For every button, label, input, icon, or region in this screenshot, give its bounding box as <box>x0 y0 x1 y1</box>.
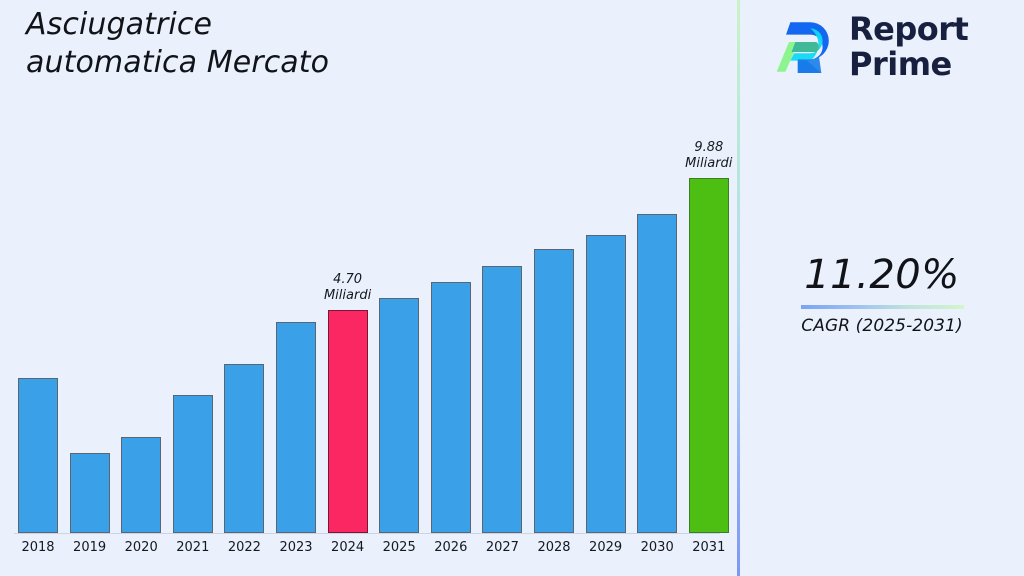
bar-2031[interactable] <box>689 178 729 533</box>
bar-2020[interactable] <box>121 437 161 533</box>
bar-2030[interactable] <box>637 214 677 533</box>
bar-group: 4.70 Miliardi <box>328 310 368 533</box>
bar-2019[interactable] <box>70 453 110 533</box>
x-axis-label-2027: 2027 <box>482 540 522 555</box>
x-axis-label-2024: 2024 <box>328 540 368 555</box>
bar-group <box>70 453 110 533</box>
x-axis-label-2031: 2031 <box>689 540 729 555</box>
bar-group <box>482 266 522 533</box>
bar-group <box>586 235 626 533</box>
bar-2023[interactable] <box>276 322 316 533</box>
bar-group <box>431 282 471 533</box>
x-axis-label-2029: 2029 <box>586 540 626 555</box>
bar-group <box>224 364 264 533</box>
bar-group <box>534 249 574 533</box>
x-axis-label-2026: 2026 <box>431 540 471 555</box>
x-axis-label-2022: 2022 <box>224 540 264 555</box>
bar-2027[interactable] <box>482 266 522 533</box>
cagr-caption: CAGR (2025-2031) <box>740 316 1024 336</box>
bar-group <box>379 298 419 533</box>
bar-2024[interactable] <box>328 310 368 533</box>
bar-2021[interactable] <box>173 395 213 533</box>
bar-group: 9.88 Miliardi <box>689 178 729 533</box>
bar-2018[interactable] <box>18 378 58 533</box>
brand-name: Report Prime <box>849 12 968 81</box>
x-axis-label-2019: 2019 <box>70 540 110 555</box>
x-axis-label-2023: 2023 <box>276 540 316 555</box>
x-axis-label-2030: 2030 <box>637 540 677 555</box>
bar-group <box>276 322 316 533</box>
cagr-divider <box>801 305 964 309</box>
infographic-root: Asciugatrice automatica Mercato 20182019… <box>0 0 1024 576</box>
brand-logo: Report Prime <box>773 12 968 81</box>
x-axis-label-2025: 2025 <box>379 540 419 555</box>
cagr-value: 11.20% <box>740 253 1024 297</box>
chart-panel: Asciugatrice automatica Mercato 20182019… <box>0 0 738 576</box>
bar-2022[interactable] <box>224 364 264 533</box>
report-prime-logo-icon <box>773 16 835 78</box>
x-axis-label-2028: 2028 <box>534 540 574 555</box>
brand-panel: Report Prime 11.20% CAGR (2025-2031) <box>740 0 1024 576</box>
bar-chart: 2018201920202021202220234.70 Miliardi202… <box>0 0 738 576</box>
bar-group <box>173 395 213 533</box>
x-axis-label-2020: 2020 <box>121 540 161 555</box>
x-axis-label-2018: 2018 <box>18 540 58 555</box>
bar-2025[interactable] <box>379 298 419 533</box>
bar-2026[interactable] <box>431 282 471 533</box>
bar-group <box>637 214 677 533</box>
x-axis-line <box>14 533 720 534</box>
x-axis-label-2021: 2021 <box>173 540 213 555</box>
bar-2029[interactable] <box>586 235 626 533</box>
bar-group <box>121 437 161 533</box>
cagr-block: 11.20% CAGR (2025-2031) <box>740 253 1024 336</box>
bar-group <box>18 378 58 533</box>
bar-2028[interactable] <box>534 249 574 533</box>
